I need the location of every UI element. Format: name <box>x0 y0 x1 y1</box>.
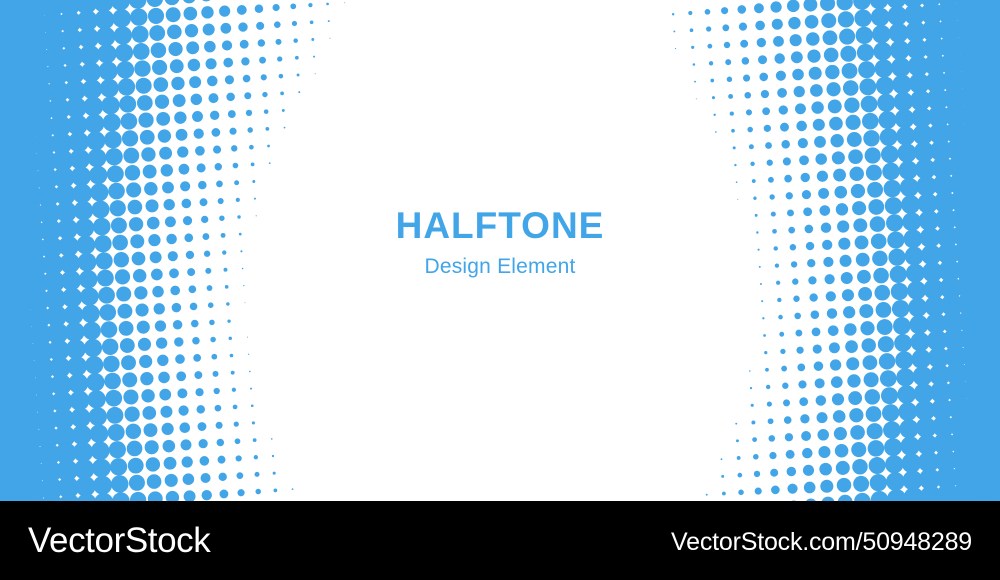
screenshot-root: HALFTONE Design Element VectorStock Vect… <box>0 0 1000 580</box>
artboard: HALFTONE Design Element <box>0 0 1000 501</box>
vectorstock-reference-url: VectorStock.com/50948289 <box>671 526 972 558</box>
vectorstock-logo-text: VectorStock <box>28 518 210 563</box>
halftone-dot-pattern <box>0 0 1000 501</box>
